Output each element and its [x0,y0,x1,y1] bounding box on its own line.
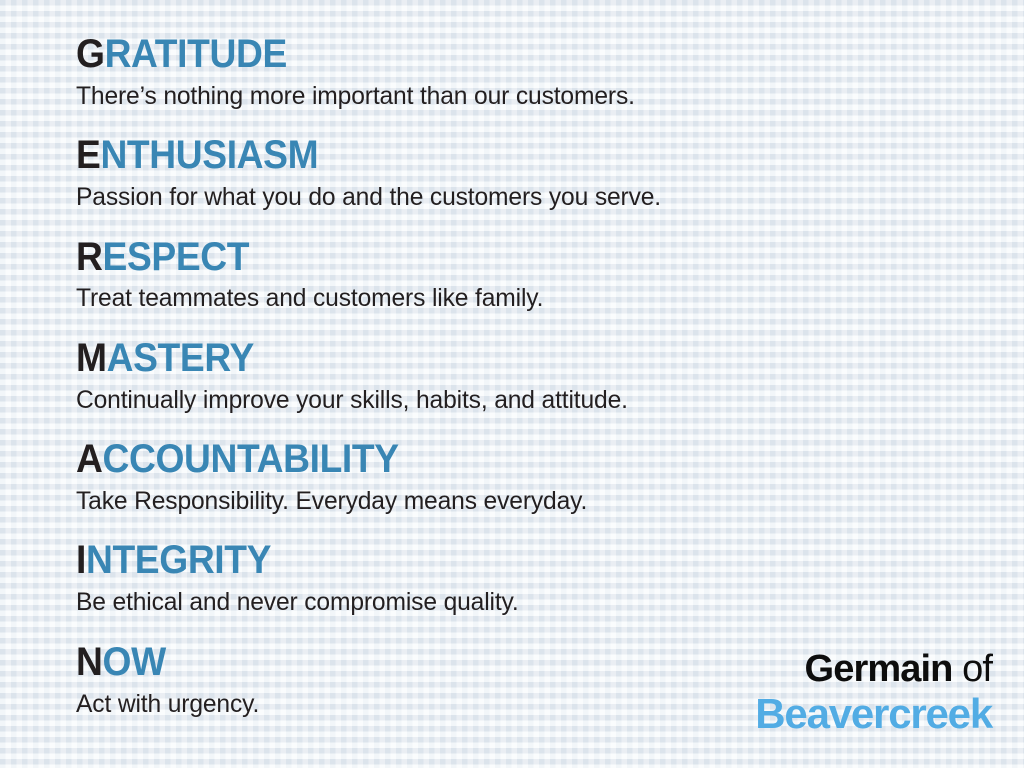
brand-location-name: Beavercreek [755,693,992,735]
value-remainder-letters: NTHUSIASM [100,133,318,177]
value-heading-gratitude: GRATITUDE [76,34,876,75]
value-entry-integrity: INTEGRITY Be ethical and never compromis… [76,540,936,618]
value-remainder-letters: NTEGRITY [86,538,271,582]
value-initial-letter: R [76,235,103,279]
value-remainder-letters: RATITUDE [105,32,287,76]
value-entry-mastery: MASTERY Continually improve your skills,… [76,338,936,416]
value-entry-enthusiasm: ENTHUSIASM Passion for what you do and t… [76,135,936,213]
value-remainder-letters: ASTERY [107,336,254,380]
value-heading-respect: RESPECT [76,237,876,278]
core-values-slide: GRATITUDE There’s nothing more important… [0,0,1024,768]
value-initial-letter: E [76,133,100,177]
value-heading-mastery: MASTERY [76,338,876,379]
value-subtitle-gratitude: There’s nothing more important than our … [76,80,923,113]
brand-logo: Germain of Beavercreek [755,650,992,735]
value-entry-respect: RESPECT Treat teammates and customers li… [76,237,936,315]
core-values-list: GRATITUDE There’s nothing more important… [76,34,936,743]
value-entry-gratitude: GRATITUDE There’s nothing more important… [76,34,936,112]
value-remainder-letters: OW [103,640,166,684]
brand-connector-word: of [962,648,992,690]
value-initial-letter: G [76,32,105,76]
value-subtitle-enthusiasm: Passion for what you do and the customer… [76,181,923,214]
brand-logo-top-line: Germain of [755,650,992,688]
value-subtitle-mastery: Continually improve your skills, habits,… [76,384,923,417]
value-initial-letter: M [76,336,107,380]
value-subtitle-respect: Treat teammates and customers like famil… [76,282,923,315]
value-initial-letter: I [76,538,86,582]
value-remainder-letters: ESPECT [103,235,250,279]
value-entry-accountability: ACCOUNTABILITY Take Responsibility. Ever… [76,439,936,517]
value-heading-accountability: ACCOUNTABILITY [76,439,876,480]
value-remainder-letters: CCOUNTABILITY [103,437,399,481]
value-heading-integrity: INTEGRITY [76,540,876,581]
value-heading-enthusiasm: ENTHUSIASM [76,135,876,176]
value-subtitle-integrity: Be ethical and never compromise quality. [76,586,923,619]
value-subtitle-accountability: Take Responsibility. Everyday means ever… [76,485,923,518]
value-initial-letter: N [76,640,103,684]
brand-company-name: Germain [805,648,953,690]
value-initial-letter: A [76,437,103,481]
